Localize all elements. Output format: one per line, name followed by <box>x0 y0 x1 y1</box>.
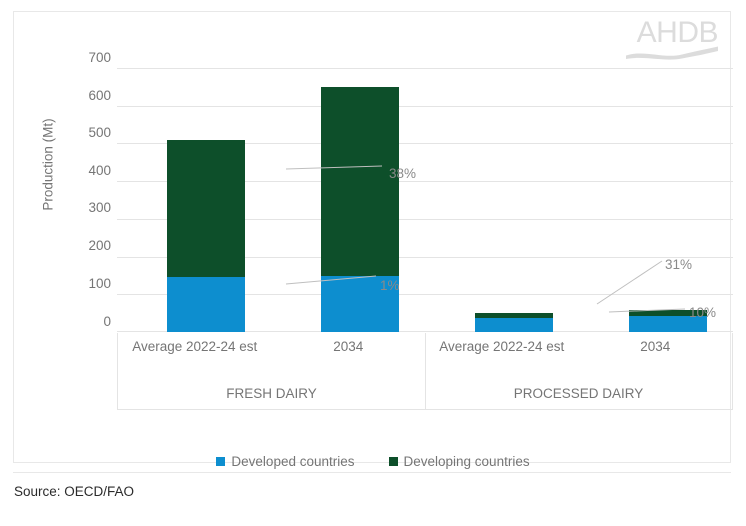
category-tick-processed-average: Average 2022-24 est <box>425 338 579 355</box>
source-note: Source: OECD/FAO <box>14 484 134 499</box>
chart-page: AHDB 700 600 500 400 300 200 100 0 Produ… <box>0 0 746 514</box>
annotation-fresh-developing-growth: 38% <box>389 166 416 181</box>
chart-legend: Developed countries Developing countries <box>14 454 732 469</box>
ahdb-logo: AHDB <box>626 18 718 62</box>
y-tick-100: 100 <box>69 276 111 291</box>
legend-item-developing[interactable]: Developing countries <box>389 454 530 469</box>
legend-label-developed: Developed countries <box>231 454 354 469</box>
category-group-fresh-dairy: Average 2022-24 est 2034 FRESH DAIRY <box>118 333 425 410</box>
y-tick-700: 700 <box>69 50 111 65</box>
bar-segment-developing[interactable] <box>321 87 399 276</box>
y-tick-500: 500 <box>69 125 111 140</box>
footer-divider <box>13 472 731 473</box>
legend-item-developed[interactable]: Developed countries <box>216 454 354 469</box>
legend-swatch-icon <box>389 457 398 466</box>
category-group-label-processed-dairy: PROCESSED DAIRY <box>425 386 732 401</box>
annotation-processed-developed-growth: 10% <box>689 305 716 320</box>
y-tick-300: 300 <box>69 200 111 215</box>
category-group-processed-dairy: Average 2022-24 est 2034 PROCESSED DAIRY <box>425 333 732 410</box>
y-tick-600: 600 <box>69 88 111 103</box>
category-axis: Average 2022-24 est 2034 FRESH DAIRY Ave… <box>117 333 733 410</box>
chart-container: AHDB 700 600 500 400 300 200 100 0 Produ… <box>13 11 731 463</box>
category-group-label-fresh-dairy: FRESH DAIRY <box>118 386 425 401</box>
bar-processed-average[interactable] <box>475 313 553 332</box>
bar-segment-developing[interactable] <box>167 140 245 277</box>
plot-area <box>117 68 733 332</box>
ahdb-logo-swoosh-icon <box>626 46 718 60</box>
legend-swatch-icon <box>216 457 225 466</box>
y-tick-200: 200 <box>69 238 111 253</box>
y-tick-0: 0 <box>69 314 111 329</box>
gridline-600 <box>117 106 733 107</box>
y-axis-title: Production (Mt) <box>41 118 56 210</box>
annotation-processed-developing-growth: 31% <box>665 257 692 272</box>
legend-label-developing: Developing countries <box>404 454 530 469</box>
category-tick-fresh-average: Average 2022-24 est <box>118 338 272 355</box>
bar-fresh-2034[interactable] <box>321 87 399 332</box>
category-tick-fresh-2034: 2034 <box>272 338 426 355</box>
bar-fresh-average[interactable] <box>167 140 245 332</box>
ahdb-logo-text: AHDB <box>626 18 718 48</box>
annotation-fresh-developed-growth: 1% <box>380 278 400 293</box>
bar-segment-developed[interactable] <box>475 318 553 332</box>
gridline-700 <box>117 68 733 69</box>
bar-segment-developed[interactable] <box>167 277 245 332</box>
category-tick-processed-2034: 2034 <box>579 338 733 355</box>
y-tick-400: 400 <box>69 163 111 178</box>
